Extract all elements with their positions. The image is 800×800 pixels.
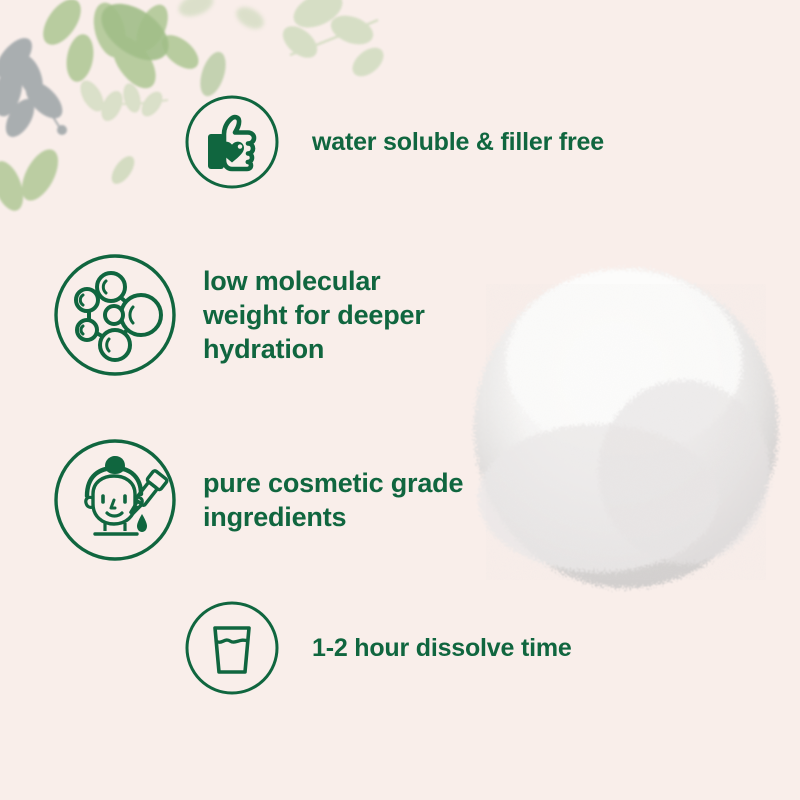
feature-label: pure cosmetic grade ingredients: [203, 466, 463, 534]
product-infographic: water soluble & filler free: [0, 0, 800, 800]
thumbs-up-heart-icon: [184, 94, 280, 190]
feature-row-water-soluble: water soluble & filler free: [184, 94, 604, 190]
feature-row-dissolve-time: 1-2 hour dissolve time: [184, 600, 572, 696]
face-dropper-icon: [53, 438, 177, 562]
feature-label: water soluble & filler free: [312, 126, 604, 159]
feature-row-low-molecular-weight: low molecular weight for deeper hydratio…: [53, 253, 425, 377]
feature-label: low molecular weight for deeper hydratio…: [203, 264, 425, 366]
molecule-icon: [53, 253, 177, 377]
water-glass-icon: [184, 600, 280, 696]
white-powder-mound-photo: [448, 236, 800, 608]
feature-row-cosmetic-grade: pure cosmetic grade ingredients: [53, 438, 463, 562]
feature-label: 1-2 hour dissolve time: [312, 632, 572, 665]
